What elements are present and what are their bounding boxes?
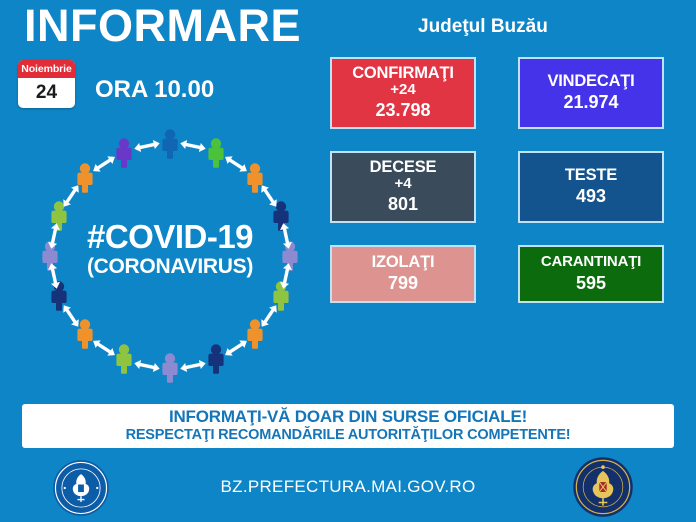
stat-box-isolated: IZOLAŢI 799: [330, 245, 476, 303]
advisory-banner: INFORMAŢI-VĂ DOAR DIN SURSE OFICIALE! RE…: [22, 404, 674, 448]
people-circle-icon: [22, 128, 318, 388]
stat-label-tests: TESTE: [565, 166, 617, 184]
county-name: Judeţul Buzău: [418, 16, 548, 38]
stat-value-confirmed: 23.798: [375, 99, 430, 122]
advisory-line-1: INFORMAŢI-VĂ DOAR DIN SURSE OFICIALE!: [169, 408, 527, 427]
informare-poster: INFORMARE Judeţul Buzău Noiembrie 24 ORA…: [0, 0, 696, 522]
stat-delta-deaths: +4: [394, 176, 411, 192]
stat-value-recovered: 21.974: [563, 91, 618, 114]
advisory-line-2: RESPECTAŢI RECOMANDĂRILE AUTORITĂŢILOR C…: [126, 427, 571, 444]
stat-value-isolated: 799: [388, 272, 418, 295]
calendar-icon: Noiembrie 24: [18, 60, 75, 108]
stat-label-confirmed: CONFIRMAŢI: [352, 64, 454, 82]
stat-box-recovered: VINDECAŢI 21.974: [518, 57, 664, 129]
stat-value-quarantined: 595: [576, 272, 606, 295]
stat-value-tests: 493: [576, 185, 606, 208]
stat-label-deaths: DECESE: [370, 158, 437, 176]
stat-box-confirmed: CONFIRMAŢI +24 23.798: [330, 57, 476, 129]
guvernul-romaniei-seal-icon: [52, 459, 110, 517]
stat-label-recovered: VINDECAŢI: [547, 72, 634, 90]
stat-box-deaths: DECESE +4 801: [330, 151, 476, 223]
stat-box-tests: TESTE 493: [518, 151, 664, 223]
statistics-grid: CONFIRMAŢI +24 23.798 VINDECAŢI 21.974 D…: [330, 57, 664, 303]
stat-label-quarantined: CARANTINAŢI: [541, 254, 641, 271]
mai-ministry-seal-icon: [572, 456, 634, 518]
stat-value-deaths: 801: [388, 193, 418, 216]
social-distancing-circle-graphic: #COVID-19 (CORONAVIRUS): [22, 128, 318, 388]
hour-label: ORA 10.00: [95, 76, 214, 104]
stat-label-isolated: IZOLAŢI: [372, 253, 435, 271]
calendar-day-label: 24: [18, 78, 75, 108]
stat-box-quarantined: CARANTINAŢI 595: [518, 245, 664, 303]
stat-delta-confirmed: +24: [390, 82, 415, 98]
calendar-month-label: Noiembrie: [18, 60, 75, 78]
page-title: INFORMARE: [24, 2, 301, 49]
